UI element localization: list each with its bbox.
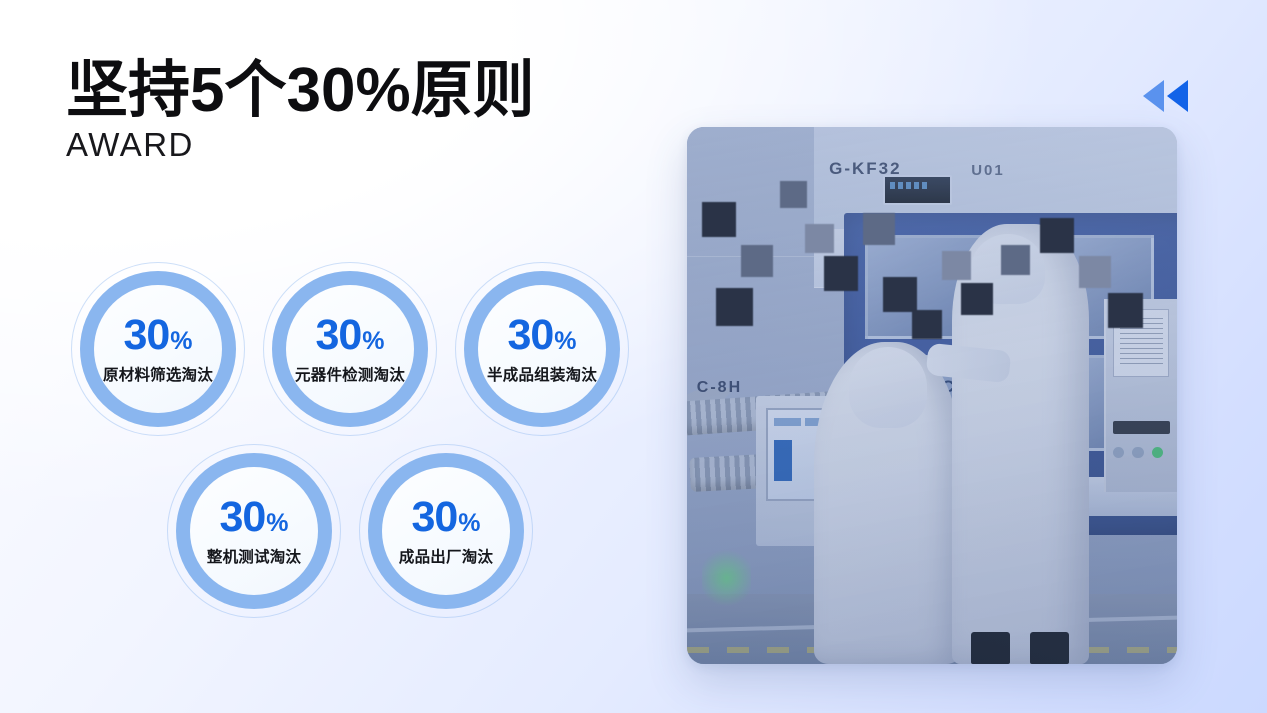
metric-value: 30 xyxy=(507,314,553,357)
mosaic-block xyxy=(1040,218,1074,253)
slide-root: 坚持5个30%原则 AWARD 30 % 原材料筛选淘汰 30 % 元器 xyxy=(0,0,1267,713)
mosaic-block xyxy=(1108,293,1142,328)
metric-circles-group: 30 % 原材料筛选淘汰 30 % 元器件检测淘汰 30 % xyxy=(0,0,660,713)
metric-value-group: 30 % xyxy=(219,496,288,539)
mosaic-block xyxy=(780,181,807,208)
metric-value-group: 30 % xyxy=(123,314,192,357)
mosaic-block xyxy=(942,251,971,281)
mosaic-block xyxy=(912,310,941,340)
metric-circle-inner: 30 % 原材料筛选淘汰 xyxy=(94,285,222,413)
mosaic-block xyxy=(1001,245,1030,275)
mosaic-block xyxy=(716,288,753,326)
metric-circle-5[interactable]: 30 % 成品出厂淘汰 xyxy=(368,453,524,609)
mosaic-block xyxy=(824,256,858,291)
metric-unit: % xyxy=(362,329,384,354)
metric-value: 30 xyxy=(219,496,265,539)
mosaic-block xyxy=(805,224,834,254)
metric-value: 30 xyxy=(315,314,361,357)
metric-unit: % xyxy=(170,329,192,354)
metric-circle-inner: 30 % 元器件检测淘汰 xyxy=(286,285,414,413)
metric-value: 30 xyxy=(411,496,457,539)
mosaic-block xyxy=(1079,256,1111,288)
triangle-left-icon-strong[interactable] xyxy=(1167,80,1188,112)
nav-prev-arrows[interactable] xyxy=(1143,78,1203,114)
metric-label: 整机测试淘汰 xyxy=(207,545,301,567)
metric-circle-inner: 30 % 成品出厂淘汰 xyxy=(382,467,510,595)
metric-label: 半成品组装淘汰 xyxy=(487,363,597,385)
metric-value-group: 30 % xyxy=(315,314,384,357)
mosaic-block xyxy=(961,283,993,315)
metric-value-group: 30 % xyxy=(411,496,480,539)
mosaic-censor-blocks xyxy=(687,127,1177,664)
metric-unit: % xyxy=(458,511,480,536)
metric-circle-inner: 30 % 半成品组装淘汰 xyxy=(478,285,606,413)
metric-circle-inner: 30 % 整机测试淘汰 xyxy=(190,467,318,595)
mosaic-block xyxy=(863,213,895,245)
metric-circle-3[interactable]: 30 % 半成品组装淘汰 xyxy=(464,271,620,427)
triangle-left-icon[interactable] xyxy=(1143,80,1164,112)
metric-value: 30 xyxy=(123,314,169,357)
metric-value-group: 30 % xyxy=(507,314,576,357)
mosaic-block xyxy=(741,245,773,277)
photo-scene: G-KF32 U01 C-8H C-8F xyxy=(687,127,1177,664)
metric-label: 元器件检测淘汰 xyxy=(295,363,405,385)
metric-circle-4[interactable]: 30 % 整机测试淘汰 xyxy=(176,453,332,609)
metric-circle-2[interactable]: 30 % 元器件检测淘汰 xyxy=(272,271,428,427)
metric-label: 原材料筛选淘汰 xyxy=(103,363,213,385)
metric-unit: % xyxy=(266,511,288,536)
mosaic-block xyxy=(702,202,736,237)
mosaic-block xyxy=(883,277,917,312)
metric-label: 成品出厂淘汰 xyxy=(399,545,493,567)
metric-circle-1[interactable]: 30 % 原材料筛选淘汰 xyxy=(80,271,236,427)
metric-unit: % xyxy=(554,329,576,354)
cleanroom-photo: G-KF32 U01 C-8H C-8F xyxy=(687,127,1177,664)
